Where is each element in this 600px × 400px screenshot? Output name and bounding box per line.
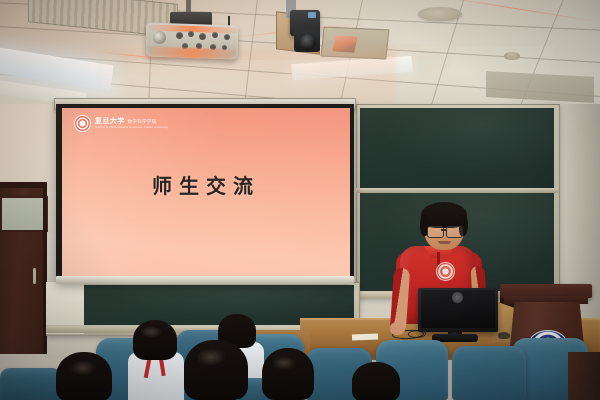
hair-highlight xyxy=(272,356,296,370)
projector-knob xyxy=(199,33,206,40)
door-handle[interactable] xyxy=(33,268,36,284)
ceiling-tile xyxy=(447,46,556,74)
slide-logo-school: 数学科学学院 xyxy=(128,120,157,125)
auditorium-seat[interactable] xyxy=(0,368,62,400)
presenter-shirt-emblem-icon xyxy=(436,262,455,281)
camera-lens-icon xyxy=(300,34,316,50)
lecture-hall-photo: 复旦大学 数学科学学院 School of Mathematical Scien… xyxy=(0,0,600,400)
right-wood-panel xyxy=(568,352,600,400)
smoke-detector-icon xyxy=(504,52,520,60)
projection-screen[interactable]: 复旦大学 数学科学学院 School of Mathematical Scien… xyxy=(62,108,350,276)
ceiling-speaker-icon xyxy=(418,7,462,21)
dell-logo-icon xyxy=(452,292,463,303)
slide-title: 师生交流 xyxy=(62,170,350,199)
blackboard-right-upper xyxy=(360,108,554,188)
hair-highlight xyxy=(196,348,226,366)
hair-highlight xyxy=(70,360,96,376)
presenter-mouth xyxy=(438,241,451,244)
slide-logo-english: School of Mathematical Sciences, Fudan U… xyxy=(95,126,168,129)
projector-lens-icon xyxy=(153,31,166,44)
desk-papers xyxy=(352,334,378,341)
presenter-glasses-bridge xyxy=(441,229,447,231)
door-glass-panel xyxy=(0,196,48,232)
projector-knob xyxy=(176,32,183,39)
presenter-glasses-icon xyxy=(446,226,463,238)
presenter-hand-left xyxy=(390,322,405,335)
projector-knob xyxy=(212,32,218,38)
audience-head xyxy=(352,362,400,400)
projector-knob xyxy=(188,31,194,37)
slide-logo: 复旦大学 数学科学学院 School of Mathematical Scien… xyxy=(74,114,194,132)
slide-logo-university: 复旦大学 xyxy=(95,118,125,125)
projector-knob xyxy=(224,34,230,40)
fudan-university-seal-icon xyxy=(74,115,91,132)
projection-screen-bottom-bar xyxy=(56,276,354,284)
slide-logo-text: 复旦大学 数学科学学院 School of Mathematical Scien… xyxy=(95,118,168,129)
computer-mouse-icon[interactable] xyxy=(498,332,510,339)
hair-highlight xyxy=(140,326,162,338)
auditorium-seat[interactable] xyxy=(452,346,526,400)
presenter-glasses-icon xyxy=(427,226,444,238)
camera-indicator xyxy=(308,12,316,18)
